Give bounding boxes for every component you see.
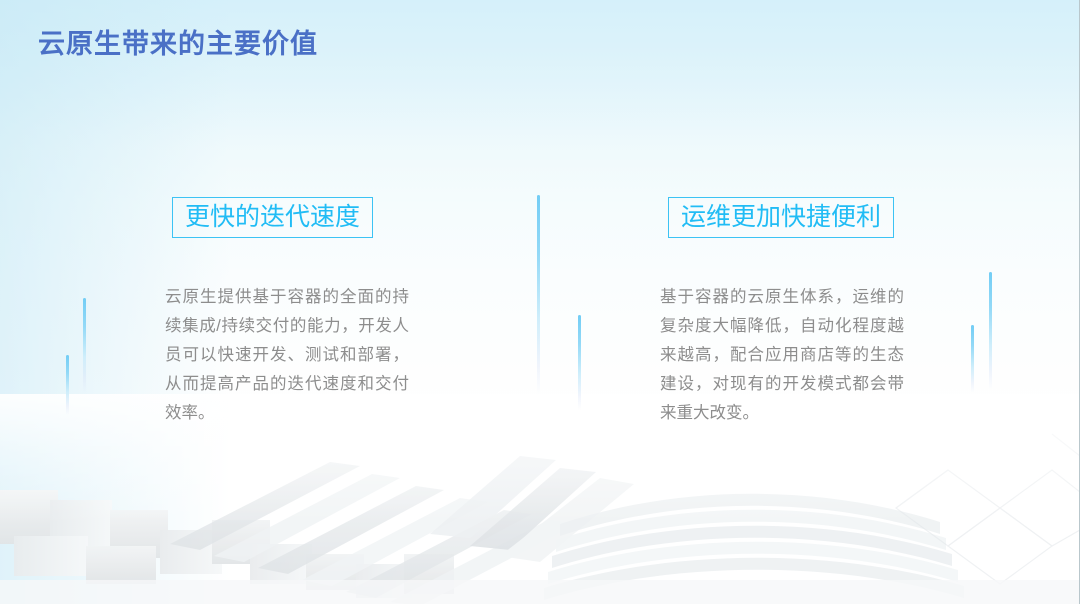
slide-canvas: 云原生带来的主要价值 更快的迭代速度 云原生提供基于容器的全面的持续集成/持续交… [0, 0, 1080, 604]
value-body-left: 云原生提供基于容器的全面的持续集成/持续交付的能力，开发人员可以快速开发、测试和… [165, 283, 409, 428]
decor-rule-far-left-tall [83, 298, 86, 393]
decor-rule-center-tall [537, 195, 540, 395]
page-title: 云原生带来的主要价值 [38, 22, 318, 61]
decor-rule-center-short [578, 315, 581, 410]
value-heading-right: 运维更加快捷便利 [668, 197, 894, 238]
decor-rule-right-short [971, 325, 974, 393]
terrain-fade-overlay [0, 394, 1080, 604]
value-column-right: 运维更加快捷便利 基于容器的云原生体系，运维的复杂度大幅降低，自动化程度越来越高… [668, 197, 918, 428]
value-body-right: 基于容器的云原生体系，运维的复杂度大幅降低，自动化程度越来越高，配合应用商店等的… [660, 283, 904, 428]
decor-rule-far-left-short [66, 355, 69, 415]
terrain-illustration [0, 404, 1080, 604]
value-column-left: 更快的迭代速度 云原生提供基于容器的全面的持续集成/持续交付的能力，开发人员可以… [172, 197, 422, 428]
decor-rule-right-tall [989, 272, 992, 390]
value-heading-left: 更快的迭代速度 [172, 197, 373, 238]
